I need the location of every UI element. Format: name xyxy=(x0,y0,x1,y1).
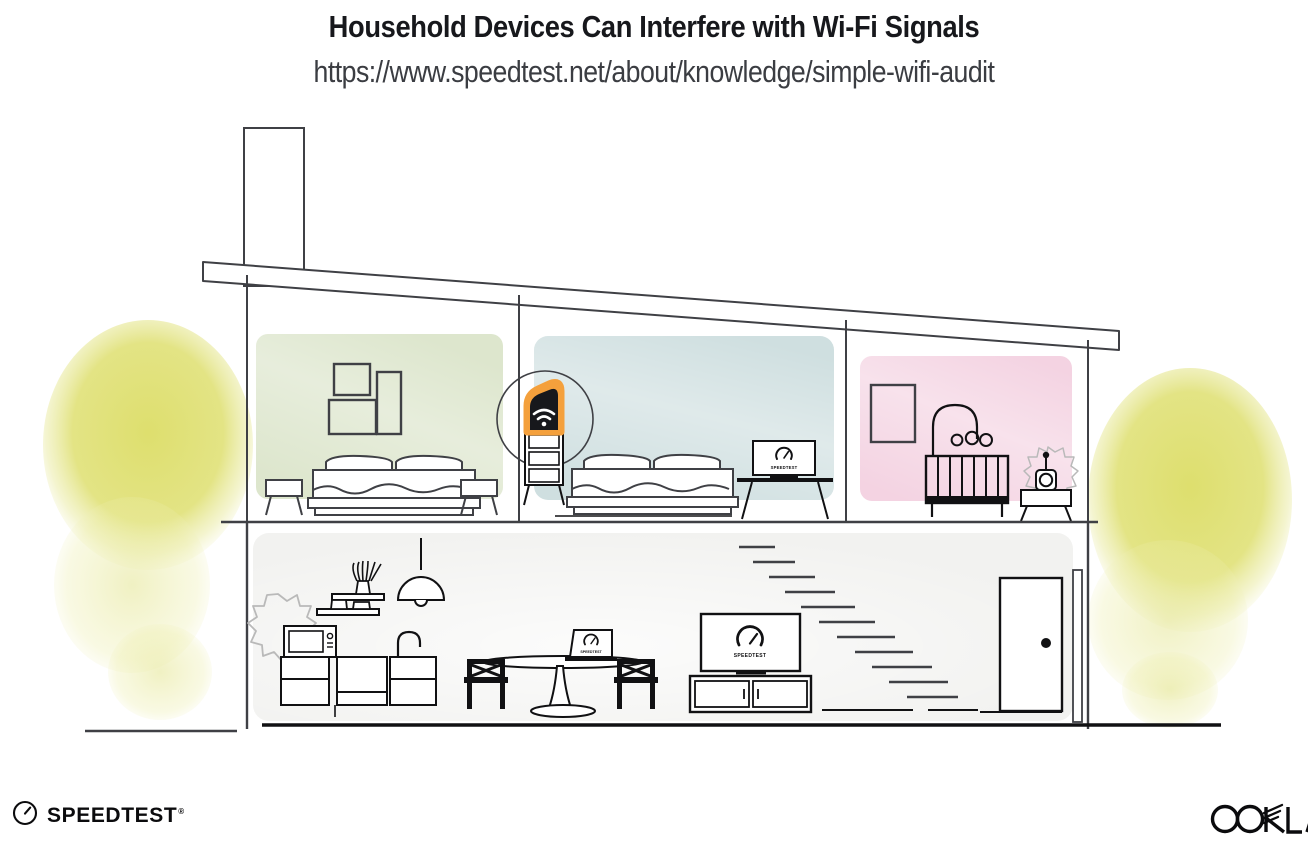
tv-screen-label: SPEEDTEST xyxy=(734,653,766,659)
registered-mark: ® xyxy=(178,807,185,816)
foliage-left xyxy=(43,320,253,720)
media-console xyxy=(690,676,811,712)
speedtest-label: SPEEDTEST xyxy=(47,804,177,827)
chimney xyxy=(244,128,304,286)
microwave[interactable] xyxy=(284,626,336,657)
side-table xyxy=(1021,490,1071,521)
speedtest-gauge-icon xyxy=(12,800,38,831)
monitor[interactable]: SPEEDTEST xyxy=(753,441,815,478)
laptop[interactable]: SPEEDTEST xyxy=(565,630,617,661)
ookla-branding xyxy=(1208,796,1308,840)
speedtest-branding: SPEEDTEST® xyxy=(12,800,185,831)
door-knob-icon[interactable] xyxy=(1041,638,1051,648)
wifi-router[interactable] xyxy=(527,383,561,432)
monitor-screen-label: SPEEDTEST xyxy=(771,465,798,470)
infographic-page: Household Devices Can Interfere with Wi-… xyxy=(0,0,1308,861)
laptop-screen-label: SPEEDTEST xyxy=(580,650,602,654)
ookla-logo xyxy=(1208,796,1308,840)
illustration-stage: SPEEDTEST xyxy=(0,0,1308,861)
speedtest-wordmark: SPEEDTEST® xyxy=(47,804,185,828)
foliage-right xyxy=(1088,368,1292,728)
television[interactable]: SPEEDTEST xyxy=(701,614,800,674)
